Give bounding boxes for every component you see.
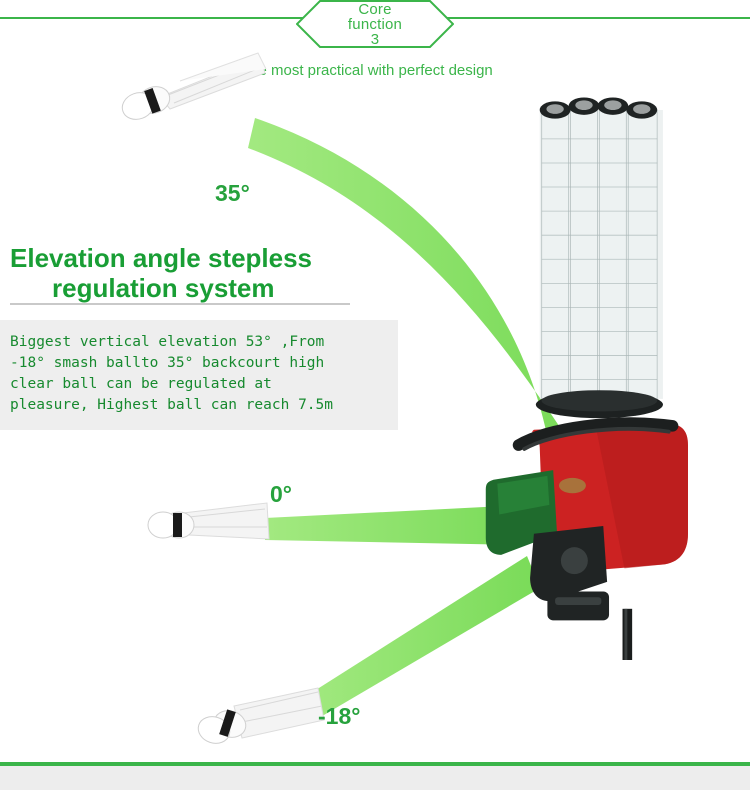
shuttlecock-top xyxy=(110,45,270,135)
description-line-4: pleasure, Highest ball can reach 7.5m xyxy=(10,395,384,416)
angle-label-bottom: -18° xyxy=(318,703,360,730)
shuttlecock-bottom xyxy=(190,680,330,770)
shuttle-tubes xyxy=(536,97,663,418)
description-box: Biggest vertical elevation 53° ,From -18… xyxy=(0,320,398,430)
shuttlecock-middle xyxy=(145,485,275,565)
bottom-green-line xyxy=(0,762,750,766)
machine-body xyxy=(486,423,688,660)
machine-illustration xyxy=(480,80,740,660)
page-title: Elevation angle stepless regulation syst… xyxy=(10,243,370,303)
description-line-3: clear ball can be regulated at xyxy=(10,374,384,395)
description-line-1: Biggest vertical elevation 53° ,From xyxy=(10,332,384,353)
headline-line-1: Elevation angle stepless xyxy=(10,243,312,273)
headline-line-2: regulation system xyxy=(52,273,370,303)
angle-label-middle: 0° xyxy=(270,481,292,508)
angle-label-top: 35° xyxy=(215,180,250,207)
description-line-2: -18° smash ballto 35° backcourt high xyxy=(10,353,384,374)
bottom-strip xyxy=(0,762,750,790)
headline-divider xyxy=(10,303,350,305)
